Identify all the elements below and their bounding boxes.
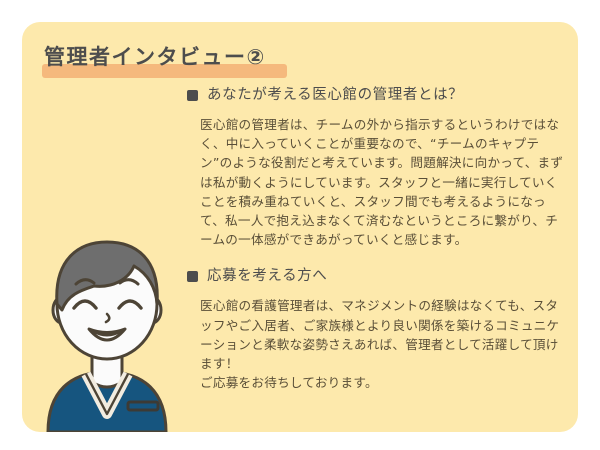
- smiling-nurse-manager-portrait: [42, 232, 172, 432]
- page-title-text: 管理者インタビュー②: [42, 42, 266, 72]
- uniform-shape: [48, 354, 166, 432]
- section-heading-2-text: 応募を考える方へ: [207, 265, 327, 287]
- filled-square-bullet-icon: [187, 271, 198, 282]
- interview-content: あなたが考える医心館の管理者とは？ 医心館の管理者は、チームの外から指示するとい…: [187, 84, 578, 408]
- section-heading-1-text: あなたが考える医心館の管理者とは？: [207, 84, 463, 106]
- page-root: 管理者インタビュー②: [0, 0, 600, 450]
- section-heading-2: 応募を考える方へ: [187, 265, 578, 287]
- section-question-1: あなたが考える医心館の管理者とは？ 医心館の管理者は、チームの外から指示するとい…: [187, 84, 578, 249]
- interview-card: 管理者インタビュー②: [22, 22, 578, 432]
- section-heading-1: あなたが考える医心館の管理者とは？: [187, 84, 578, 106]
- section-body-1: 医心館の管理者は、チームの外から指示するというわけではな く、中に入っていくこと…: [200, 115, 578, 249]
- section-question-2: 応募を考える方へ 医心館の看護管理者は、マネジメントの経験はなくても、スタ ッフ…: [187, 265, 578, 392]
- section-body-2: 医心館の看護管理者は、マネジメントの経験はなくても、スタ ッフやご入居者、ご家族…: [200, 296, 578, 392]
- filled-square-bullet-icon: [187, 90, 198, 101]
- page-title: 管理者インタビュー②: [42, 42, 266, 78]
